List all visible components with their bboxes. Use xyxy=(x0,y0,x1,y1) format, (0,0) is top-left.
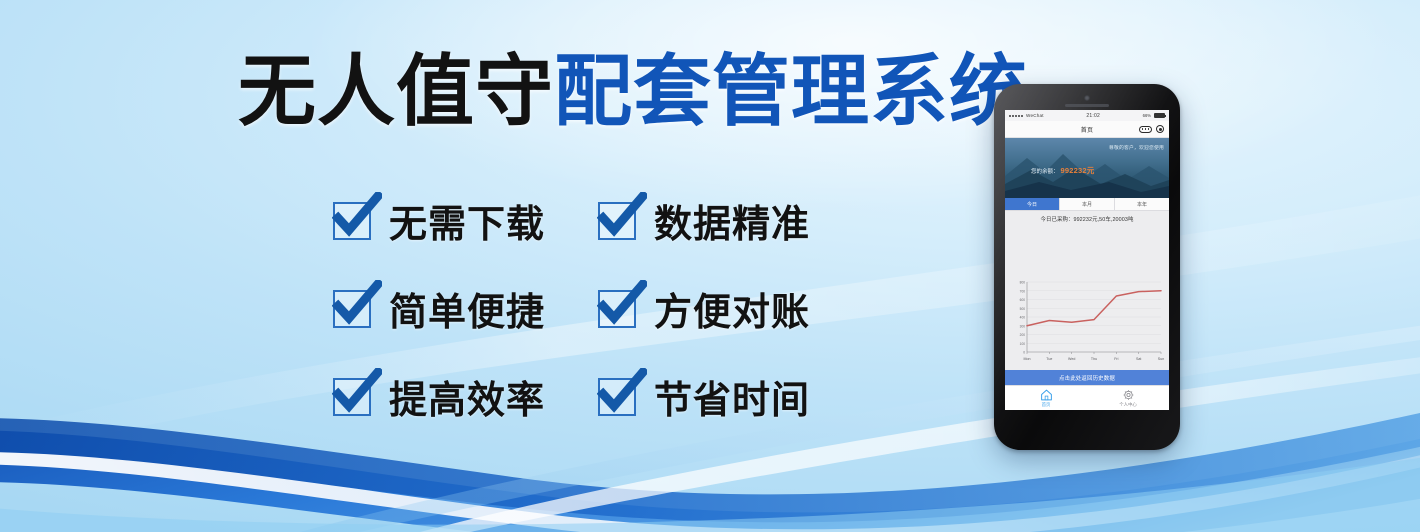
feature-label: 节省时间 xyxy=(654,369,810,424)
summary-text: 今日已采购：992232元,50车,20003吨 xyxy=(1005,211,1169,227)
feature-item: 无需下载 xyxy=(333,193,598,248)
svg-text:600: 600 xyxy=(1020,298,1026,302)
feature-item: 数据精准 xyxy=(598,193,863,248)
battery-percent-label: 66% xyxy=(1143,113,1151,118)
checkbox-checked-icon xyxy=(333,376,373,416)
phone-screen: WeChat 21:02 66% 首页 xyxy=(1005,110,1169,410)
feature-item: 节省时间 xyxy=(598,369,863,424)
tabbar-item-home[interactable]: 首页 xyxy=(1005,386,1087,410)
feature-label: 简单便捷 xyxy=(389,281,545,336)
svg-text:500: 500 xyxy=(1020,307,1026,311)
svg-text:Fri: Fri xyxy=(1114,357,1118,361)
gear-icon xyxy=(1122,389,1135,401)
promo-banner: 无人值守配套管理系统 无需下载 数据精准 xyxy=(0,0,1420,532)
target-icon[interactable] xyxy=(1156,125,1164,133)
camera-icon xyxy=(1084,95,1090,101)
svg-text:700: 700 xyxy=(1020,289,1026,293)
svg-text:200: 200 xyxy=(1020,333,1026,337)
balance-row: 您的余额： 992232元 xyxy=(1031,165,1094,176)
feature-item: 提高效率 xyxy=(333,369,598,424)
status-time: 21:02 xyxy=(1047,113,1140,119)
balance-label: 您的余额： xyxy=(1031,167,1059,175)
feature-item: 简单便捷 xyxy=(333,281,598,336)
feature-label: 数据精准 xyxy=(654,193,810,248)
svg-text:Thu: Thu xyxy=(1091,357,1097,361)
bottom-tab-bar: 首页 个人中心 xyxy=(1005,385,1169,410)
svg-text:Wed: Wed xyxy=(1068,357,1075,361)
tab-today[interactable]: 今日 xyxy=(1005,198,1060,210)
page-title-accent: 配套管理系统 xyxy=(554,47,1028,137)
earpiece-speaker xyxy=(1065,104,1109,107)
tabbar-label: 首页 xyxy=(1042,402,1051,408)
svg-text:800: 800 xyxy=(1020,281,1026,285)
svg-text:Sun: Sun xyxy=(1158,357,1164,361)
svg-text:Sat: Sat xyxy=(1136,357,1141,361)
svg-text:Mon: Mon xyxy=(1024,357,1031,361)
wechat-nav-bar: 首页 xyxy=(1005,121,1169,138)
phone-mockup: WeChat 21:02 66% 首页 xyxy=(994,84,1180,450)
tab-year[interactable]: 本年 xyxy=(1115,198,1169,210)
status-bar: WeChat 21:02 66% xyxy=(1005,110,1169,121)
svg-text:Tue: Tue xyxy=(1046,357,1052,361)
checkbox-checked-icon xyxy=(333,200,373,240)
feature-label: 无需下载 xyxy=(389,193,545,248)
signal-strength-icon xyxy=(1009,115,1023,117)
nav-actions xyxy=(1139,125,1164,133)
carrier-label: WeChat xyxy=(1026,113,1044,118)
checkbox-checked-icon xyxy=(598,288,638,328)
feature-label: 提高效率 xyxy=(389,369,545,424)
svg-text:300: 300 xyxy=(1020,324,1026,328)
checkbox-checked-icon xyxy=(598,200,638,240)
history-cta-button[interactable]: 点击此处返回历史数据 xyxy=(1005,370,1169,385)
page-title: 无人值守配套管理系统 xyxy=(238,52,1028,133)
nav-title: 首页 xyxy=(1081,125,1094,134)
checkbox-checked-icon xyxy=(333,288,373,328)
tabbar-label: 个人中心 xyxy=(1119,402,1137,408)
hero-welcome-text: 尊敬的客户，欢迎您使用 xyxy=(1109,144,1164,151)
home-icon xyxy=(1040,389,1053,401)
line-chart: 0100200300400500600700800MonTueWedThuFri… xyxy=(1005,227,1169,370)
tabbar-item-profile[interactable]: 个人中心 xyxy=(1087,386,1169,410)
feature-label: 方便对账 xyxy=(654,281,810,336)
feature-list: 无需下载 数据精准 简单便捷 xyxy=(333,176,863,440)
svg-text:100: 100 xyxy=(1020,342,1026,346)
page-title-primary: 无人值守 xyxy=(238,47,554,137)
feature-item: 方便对账 xyxy=(598,281,863,336)
checkbox-checked-icon xyxy=(598,376,638,416)
svg-text:400: 400 xyxy=(1020,316,1026,320)
hero-banner: 尊敬的客户，欢迎您使用 您的余额： 992232元 xyxy=(1005,138,1169,198)
tab-month[interactable]: 本月 xyxy=(1060,198,1115,210)
period-tabs: 今日 本月 本年 xyxy=(1005,198,1169,211)
ellipsis-icon[interactable] xyxy=(1139,126,1152,133)
balance-value: 992232元 xyxy=(1061,165,1095,176)
svg-text:0: 0 xyxy=(1023,351,1025,355)
battery-icon xyxy=(1154,113,1165,118)
